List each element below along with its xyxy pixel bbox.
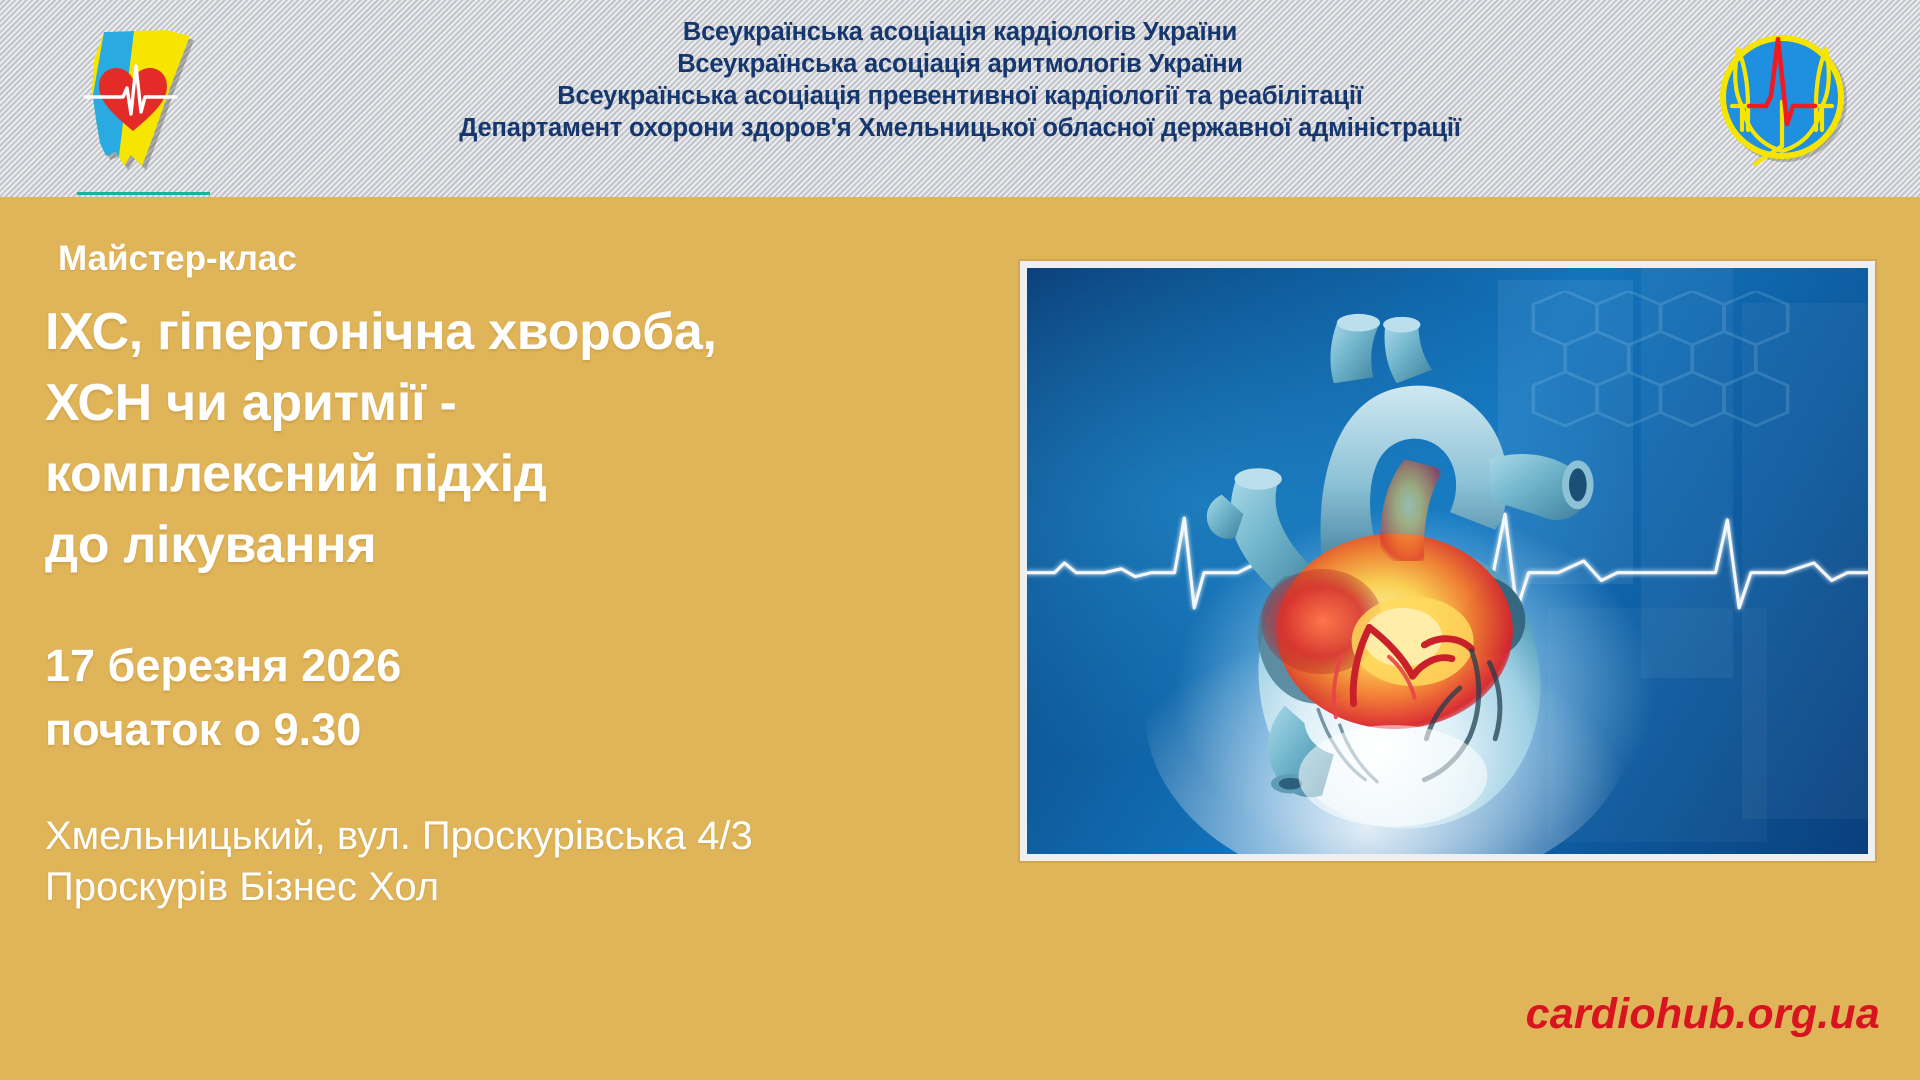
anatomical-heart-with-ecg-illustration [1027, 268, 1868, 854]
headline-line-2: ХСН чи аритмії - [45, 368, 975, 439]
venue-name: Проскурів Бізнес Хол [45, 862, 945, 913]
heart-image-frame [1020, 261, 1875, 861]
venue-address: Хмельницький, вул. Проскурівська 4/3 [45, 811, 945, 862]
event-date: 17 березня 2026 [45, 634, 745, 698]
event-start-time: початок о 9.30 [45, 698, 745, 762]
event-kicker: Майстер-клас [58, 239, 297, 279]
heart-anatomy-graphic [1027, 268, 1868, 854]
headline-line-4: до лікування [45, 510, 975, 581]
headline-line-3: комплексний підхід [45, 439, 975, 510]
headline-line-1: ІХС, гіпертонічна хвороба, [45, 297, 975, 368]
poster-header: Всеукраїнська асоціація кардіологів Укра… [0, 0, 1920, 197]
organisation-line-3: Всеукраїнська асоціація превентивної кар… [290, 80, 1630, 112]
logo-underline-rule [77, 192, 210, 195]
organisation-line-1: Всеукраїнська асоціація кардіологів Укра… [290, 16, 1630, 48]
organisation-line-4: Департамент охорони здоров'я Хмельницько… [290, 112, 1630, 144]
organisation-line-2: Всеукраїнська асоціація аритмологів Укра… [290, 48, 1630, 80]
organisation-list: Всеукраїнська асоціація кардіологів Укра… [290, 16, 1630, 144]
website-url[interactable]: cardiohub.org.ua [1526, 989, 1880, 1039]
event-venue: Хмельницький, вул. Проскурівська 4/3 Про… [45, 811, 945, 913]
event-datetime: 17 березня 2026 початок о 9.30 [45, 634, 745, 762]
event-headline: ІХС, гіпертонічна хвороба, ХСН чи аритмі… [45, 297, 975, 581]
ukraine-tryzub-ecg-emblem [1703, 18, 1863, 178]
poster-body: Майстер-клас ІХС, гіпертонічна хвороба, … [0, 197, 1920, 1080]
khmelnytskyi-oblast-heart-ecg-logo [58, 16, 208, 181]
